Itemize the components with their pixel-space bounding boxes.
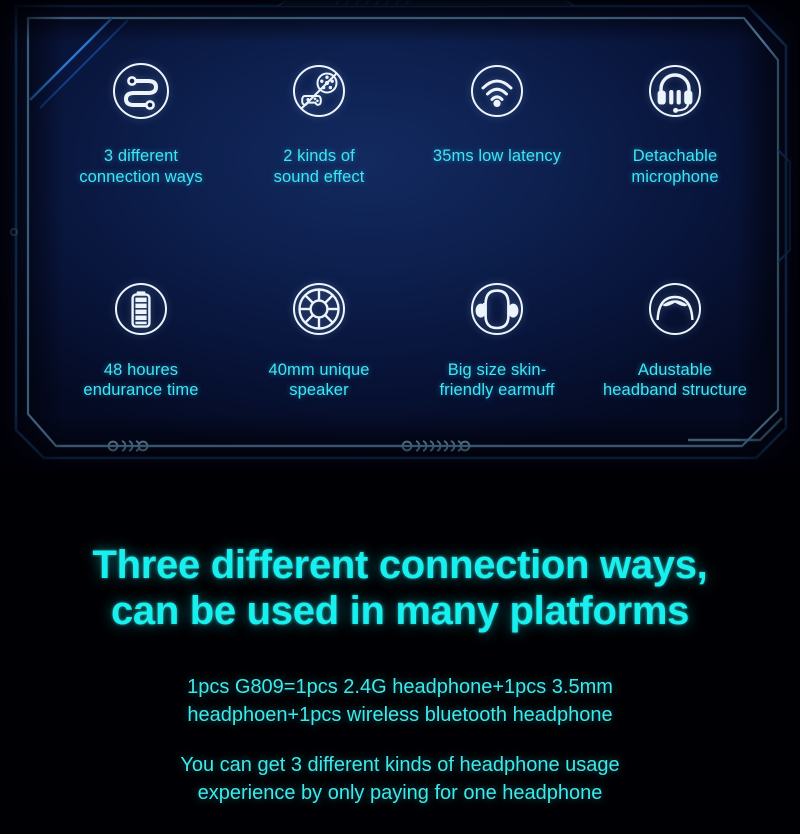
feature-label: Detachable microphone (631, 146, 718, 188)
battery-icon (108, 276, 174, 342)
feature-label: 2 kinds of sound effect (274, 146, 365, 188)
feature-label: 48 houres endurance time (83, 360, 198, 402)
feature-item-connection-ways: 3 different connection ways (52, 58, 230, 188)
feature-label: Big size skin- friendly earmuff (439, 360, 554, 402)
earmuff-head-icon (464, 276, 530, 342)
feature-item-earmuff: Big size skin- friendly earmuff (408, 276, 586, 402)
hero-panel: 3 different connection ways (0, 0, 800, 470)
feature-item-low-latency: 35ms low latency (408, 58, 586, 188)
headband-arc-icon (642, 276, 708, 342)
feature-label: 35ms low latency (433, 146, 561, 167)
section-headline: Three different connection ways, can be … (0, 542, 800, 635)
feature-item-endurance-time: 48 houres endurance time (52, 276, 230, 402)
no-game-movie-icon (286, 58, 352, 124)
lower-copy-section: Three different connection ways, can be … (0, 470, 800, 834)
feature-label: Adustable headband structure (603, 360, 747, 402)
feature-item-headband: Adustable headband structure (586, 276, 764, 402)
wifi-signal-icon (464, 58, 530, 124)
feature-label: 3 different connection ways (79, 146, 203, 188)
feature-item-sound-effect: 2 kinds of sound effect (230, 58, 408, 188)
speaker-driver-icon (286, 276, 352, 342)
usage-benefit-paragraph: You can get 3 different kinds of headpho… (0, 751, 800, 808)
feature-label: 40mm unique speaker (268, 360, 369, 402)
feature-item-detachable-microphone: Detachable microphone (586, 58, 764, 188)
feature-item-speaker: 40mm unique speaker (230, 276, 408, 402)
feature-grid: 3 different connection ways (52, 58, 764, 401)
connection-path-icon (108, 58, 174, 124)
product-infographic: 3 different connection ways (0, 0, 800, 834)
headset-microphone-icon (642, 58, 708, 124)
package-contents-paragraph: 1pcs G809=1pcs 2.4G headphone+1pcs 3.5mm… (0, 673, 800, 730)
